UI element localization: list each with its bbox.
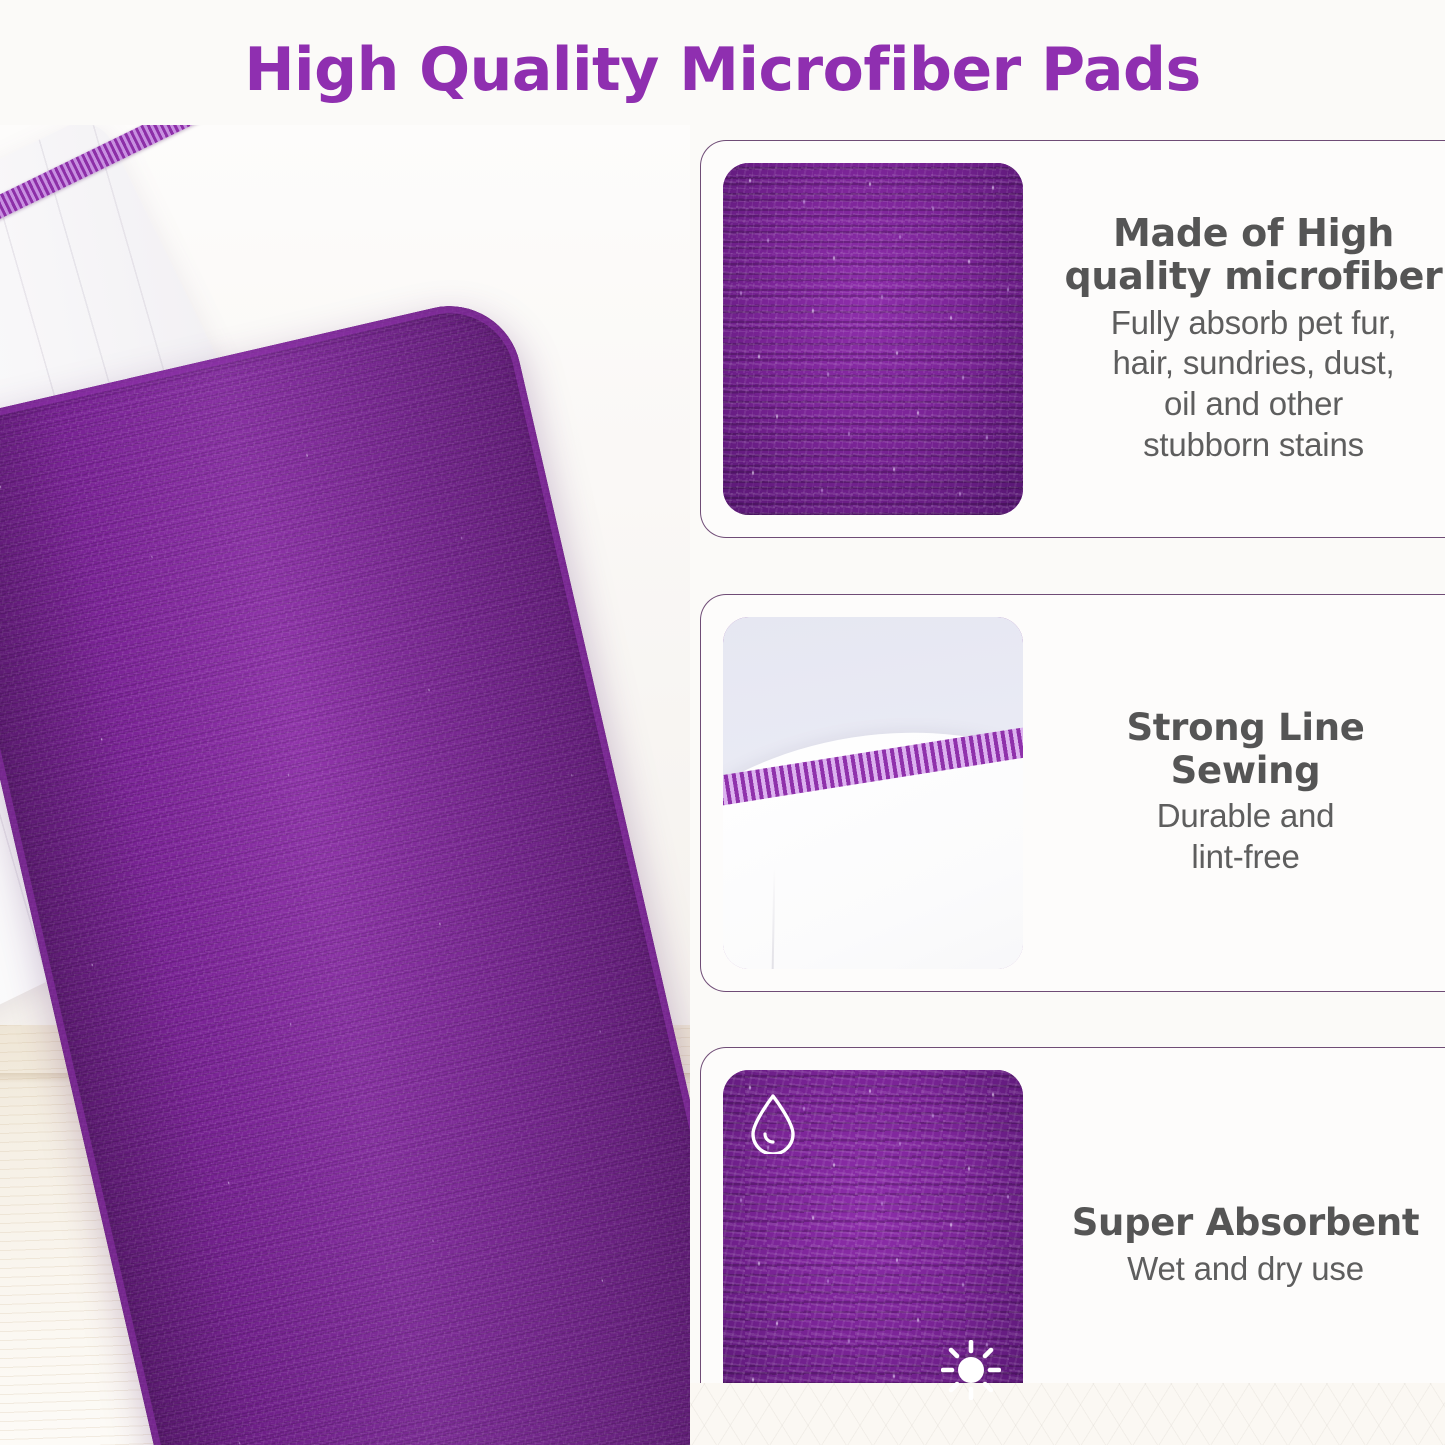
stitched-edge-photo bbox=[723, 617, 1023, 969]
microfiber-loop-texture bbox=[723, 163, 1023, 515]
feature-card-sewing: Strong Line Sewing Durable and lint-free bbox=[700, 594, 1445, 992]
feature-subtext-line-1: Wet and dry use bbox=[1127, 1250, 1364, 1287]
feature-heading: Strong Line Sewing bbox=[1057, 707, 1434, 791]
feature-card-list: Made of High quality microfiber Fully ab… bbox=[700, 140, 1445, 1445]
infographic-page: High Quality Microfiber Pads Made of Hig… bbox=[0, 0, 1445, 1445]
feature-card-text: Strong Line Sewing Durable and lint-free bbox=[1023, 707, 1445, 877]
stitched-edge-closeup-thumb bbox=[723, 617, 1023, 969]
feature-subtext-line-1: Durable and bbox=[1157, 797, 1335, 834]
absorbent-microfiber-thumb bbox=[723, 1070, 1023, 1422]
microfiber-closeup-thumb bbox=[723, 163, 1023, 515]
feature-heading-line-1: Super Absorbent bbox=[1072, 1201, 1420, 1244]
feature-heading: Made of High quality microfiber bbox=[1057, 212, 1445, 299]
title-bar: High Quality Microfiber Pads bbox=[0, 0, 1445, 140]
feature-subtext-line-1: Fully absorb pet fur, bbox=[1111, 304, 1397, 341]
feature-heading-line-1: Made of High bbox=[1113, 211, 1394, 255]
feature-subtext: Wet and dry use bbox=[1057, 1249, 1434, 1290]
background-mesh-texture bbox=[690, 1383, 1445, 1445]
purple-overlock-stitching bbox=[723, 678, 1023, 969]
hero-product-photo bbox=[0, 125, 690, 1445]
feature-heading-line-1: Strong Line bbox=[1126, 706, 1364, 749]
feature-card-microfiber: Made of High quality microfiber Fully ab… bbox=[700, 140, 1445, 538]
feature-subtext: Durable and lint-free bbox=[1057, 796, 1434, 878]
feature-heading: Super Absorbent bbox=[1057, 1202, 1434, 1244]
sun-icon bbox=[941, 1340, 1001, 1400]
feature-subtext-line-2: lint-free bbox=[1191, 838, 1299, 875]
feature-heading-line-2: quality microfiber bbox=[1065, 254, 1443, 298]
feature-subtext: Fully absorb pet fur, hair, sundries, du… bbox=[1057, 303, 1445, 467]
feature-heading-line-2: Sewing bbox=[1171, 749, 1321, 792]
feature-card-text: Super Absorbent Wet and dry use bbox=[1023, 1202, 1445, 1289]
feature-subtext-line-3: oil and other bbox=[1164, 385, 1343, 422]
water-drop-icon bbox=[745, 1092, 801, 1154]
feature-subtext-line-4: stubborn stains bbox=[1143, 426, 1364, 463]
page-title: High Quality Microfiber Pads bbox=[244, 35, 1200, 105]
feature-card-text: Made of High quality microfiber Fully ab… bbox=[1023, 212, 1445, 466]
feature-subtext-line-2: hair, sundries, dust, bbox=[1113, 344, 1395, 381]
